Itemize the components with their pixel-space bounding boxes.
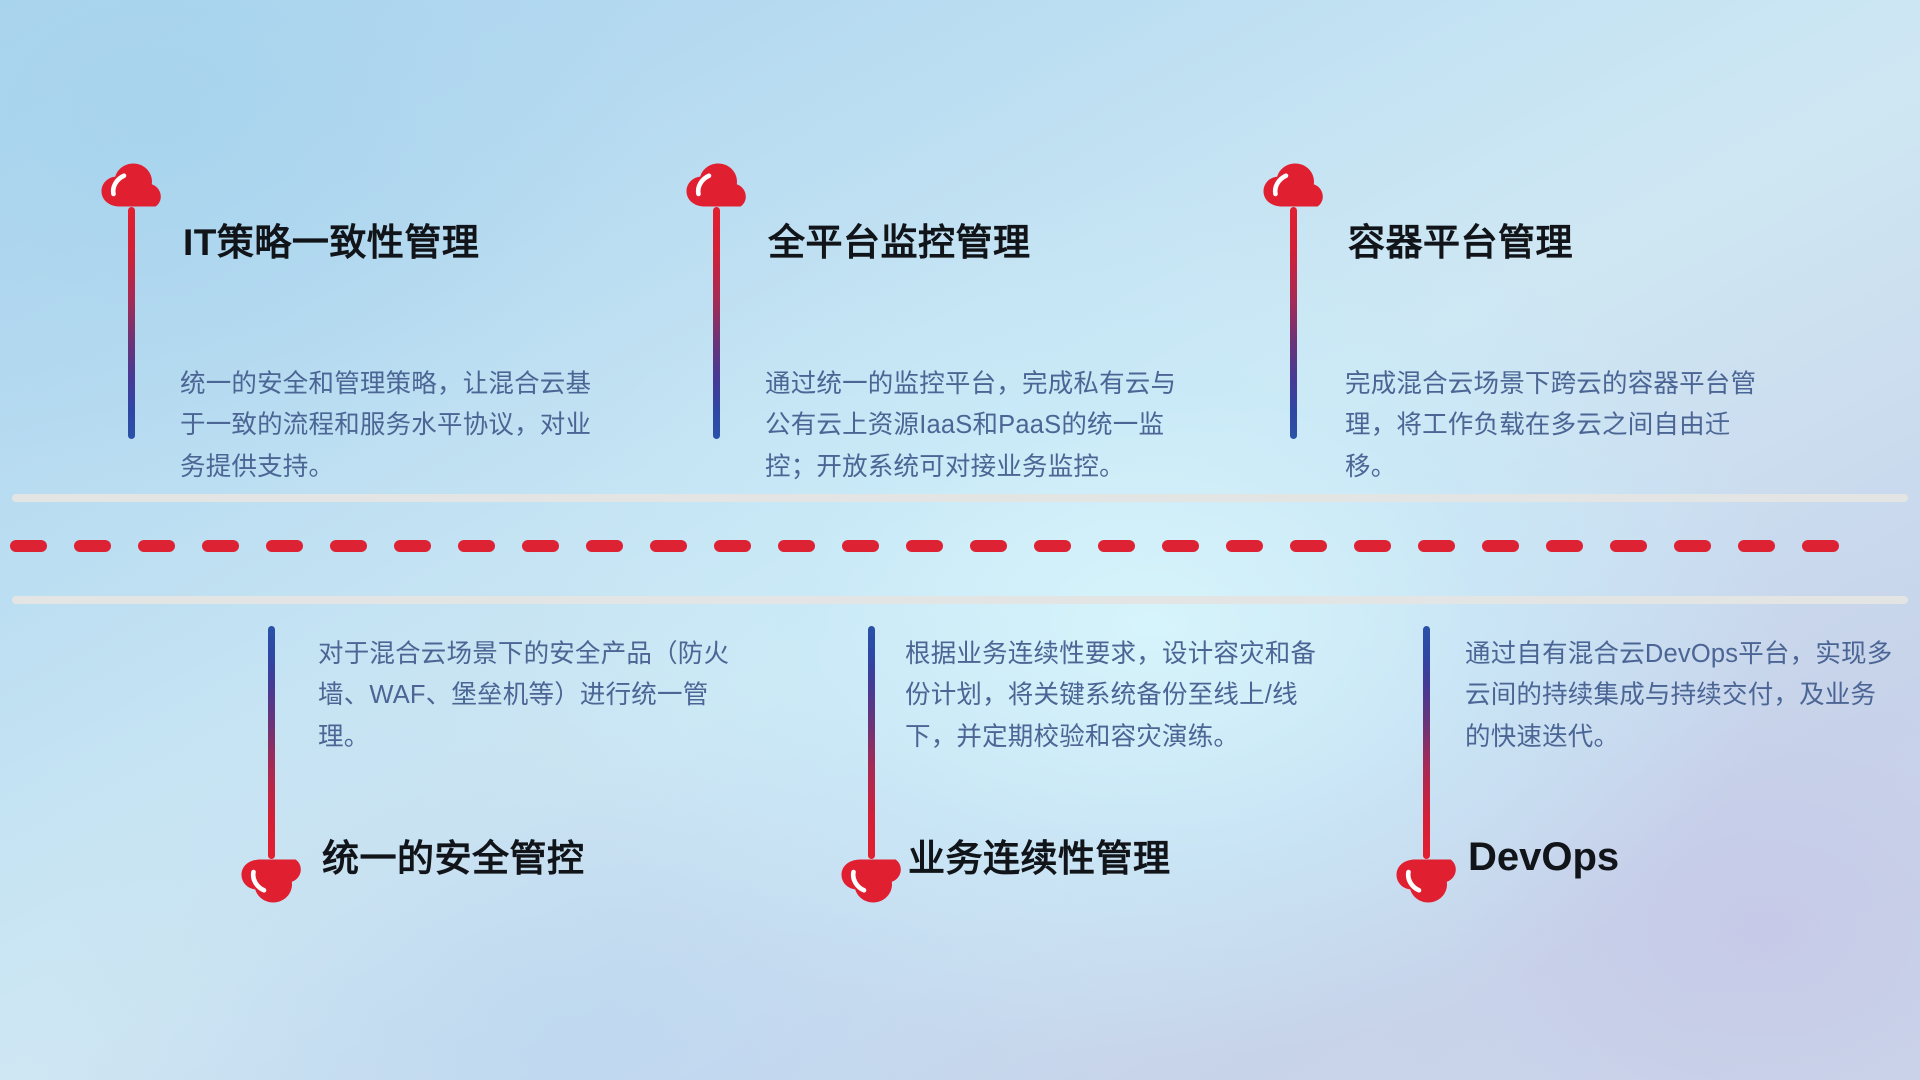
card-container-platform-management[interactable]: 容器平台管理 完成混合云场景下跨云的容器平台管理，将工作负载在多云之间自由迁移。 [1280,0,1920,498]
divider-dash [1418,540,1455,552]
card-devops[interactable]: 通过自有混合云DevOps平台，实现多云间的持续集成与持续交付，及业务的快速迭代… [1280,600,1920,1080]
card-it-policy-consistency[interactable]: IT策略一致性管理 统一的安全和管理策略，让混合云基于一致的流程和服务水平协议，… [0,0,640,498]
cloud-icon [685,163,747,207]
cloud-icon [100,163,162,207]
divider-dash [202,540,239,552]
marker-it-policy-consistency [100,163,170,207]
marker-full-platform-monitoring [685,163,755,207]
card-unified-security-control[interactable]: 对于混合云场景下的安全产品（防火墙、WAF、堡垒机等）进行统一管理。 统一的安全… [0,600,640,1080]
divider-dash [74,540,111,552]
divider-dash [458,540,495,552]
stem-line [268,626,275,859]
divider-dash [1610,540,1647,552]
divider-dash [1546,540,1583,552]
divider-dash [1226,540,1263,552]
divider-dash [1098,540,1135,552]
cloud-icon [1262,163,1324,207]
divider-dash [906,540,943,552]
cloud-icon [1395,859,1457,903]
divider-dash [1290,540,1327,552]
divider-dash [1034,540,1071,552]
divider-dash [394,540,431,552]
card-heading: 容器平台管理 [1348,224,1573,261]
card-heading: 业务连续性管理 [908,840,1171,877]
divider-rule-top [12,494,1908,502]
stem-line [1290,207,1297,439]
divider-dash [1738,540,1775,552]
divider-dash [1482,540,1519,552]
divider-dash [330,540,367,552]
divider-dash [1354,540,1391,552]
divider-dash [10,540,47,552]
stem-line [128,207,135,439]
card-description: 通过统一的监控平台，完成私有云与公有云上资源IaaS和PaaS的统一监控；开放系… [765,364,1195,488]
divider-dash [138,540,175,552]
card-heading: DevOps [1468,837,1619,877]
card-business-continuity-management[interactable]: 根据业务连续性要求，设计容灾和备份计划，将关键系统备份至线上/线下，并定期校验和… [640,600,1280,1080]
marker-container-platform-management [1262,163,1332,207]
infographic-canvas: IT策略一致性管理 统一的安全和管理策略，让混合云基于一致的流程和服务水平协议，… [0,0,1920,1080]
card-description: 统一的安全和管理策略，让混合云基于一致的流程和服务水平协议，对业务提供支持。 [180,364,610,488]
divider-dash [1162,540,1199,552]
divider-dash [714,540,751,552]
card-description: 根据业务连续性要求，设计容灾和备份计划，将关键系统备份至线上/线下，并定期校验和… [905,634,1335,758]
divider-dash [1802,540,1839,552]
cloud-icon [240,859,302,903]
divider-dash [1674,540,1711,552]
cloud-icon [840,859,902,903]
card-heading: 全平台监控管理 [768,224,1031,261]
bottom-row: 对于混合云场景下的安全产品（防火墙、WAF、堡垒机等）进行统一管理。 统一的安全… [0,600,1920,1080]
card-description: 完成混合云场景下跨云的容器平台管理，将工作负载在多云之间自由迁移。 [1345,364,1775,488]
card-heading: IT策略一致性管理 [183,224,479,261]
divider-dash [970,540,1007,552]
stem-line [1423,626,1430,859]
card-heading: 统一的安全管控 [322,840,585,877]
card-description: 通过自有混合云DevOps平台，实现多云间的持续集成与持续交付，及业务的快速迭代… [1465,634,1895,758]
dashed-divider-line [10,540,1912,552]
top-row: IT策略一致性管理 统一的安全和管理策略，让混合云基于一致的流程和服务水平协议，… [0,0,1920,498]
divider-dash [266,540,303,552]
divider-dash [842,540,879,552]
stem-line [713,207,720,439]
divider-dash [522,540,559,552]
divider-dash [586,540,623,552]
stem-line [868,626,875,859]
divider-dash [778,540,815,552]
divider-dash [650,540,687,552]
card-full-platform-monitoring[interactable]: 全平台监控管理 通过统一的监控平台，完成私有云与公有云上资源IaaS和PaaS的… [640,0,1280,498]
